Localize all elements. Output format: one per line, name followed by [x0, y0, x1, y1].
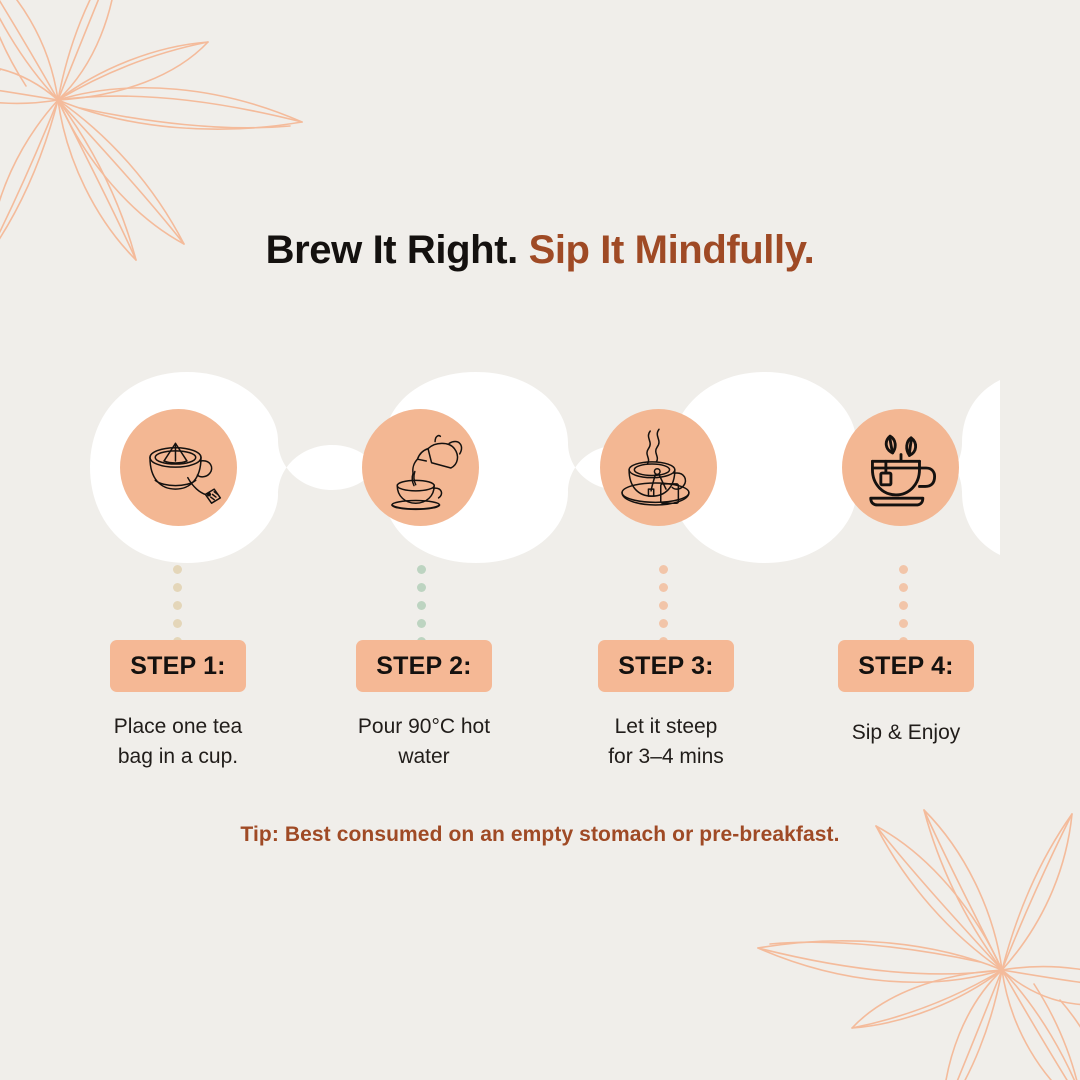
step-badge-4[interactable]: STEP 4:	[838, 640, 974, 692]
step-caption-3: Let it steep for 3–4 mins	[546, 712, 786, 773]
step-caption-2-line-1: Pour 90°C hot	[304, 712, 544, 742]
step-icon-4	[842, 409, 959, 526]
step-badge-2[interactable]: STEP 2:	[356, 640, 492, 692]
step-icon-3	[600, 409, 717, 526]
infographic-canvas: Brew It Right. Sip It Mindfully.	[0, 0, 1080, 1080]
step-icon-1	[120, 409, 237, 526]
cup-with-leaves-icon	[870, 436, 934, 505]
step-caption-3-line-2: for 3–4 mins	[546, 742, 786, 772]
step-caption-4: Sip & Enjoy	[786, 718, 1026, 748]
step-caption-1: Place one tea bag in a cup.	[58, 712, 298, 773]
step-caption-1-line-2: bag in a cup.	[58, 742, 298, 772]
page-title: Brew It Right. Sip It Mindfully.	[0, 228, 1080, 272]
step-caption-3-line-1: Let it steep	[546, 712, 786, 742]
page-title-accent: Sip It Mindfully.	[529, 228, 815, 272]
teapot-pouring-icon	[391, 435, 461, 509]
step-badge-1[interactable]: STEP 1:	[110, 640, 246, 692]
steaming-cup-with-teabag-icon	[622, 429, 689, 505]
step-icon-2	[362, 409, 479, 526]
step-caption-1-line-1: Place one tea	[58, 712, 298, 742]
step-caption-2-line-2: water	[304, 742, 544, 772]
step-caption-2: Pour 90°C hot water	[304, 712, 544, 773]
cup-with-teabag-icon	[149, 443, 219, 503]
page-title-primary: Brew It Right.	[266, 228, 518, 272]
step-caption-4-line-1: Sip & Enjoy	[786, 718, 1026, 748]
step-badge-3[interactable]: STEP 3:	[598, 640, 734, 692]
tip-text: Tip: Best consumed on an empty stomach o…	[0, 823, 1080, 847]
